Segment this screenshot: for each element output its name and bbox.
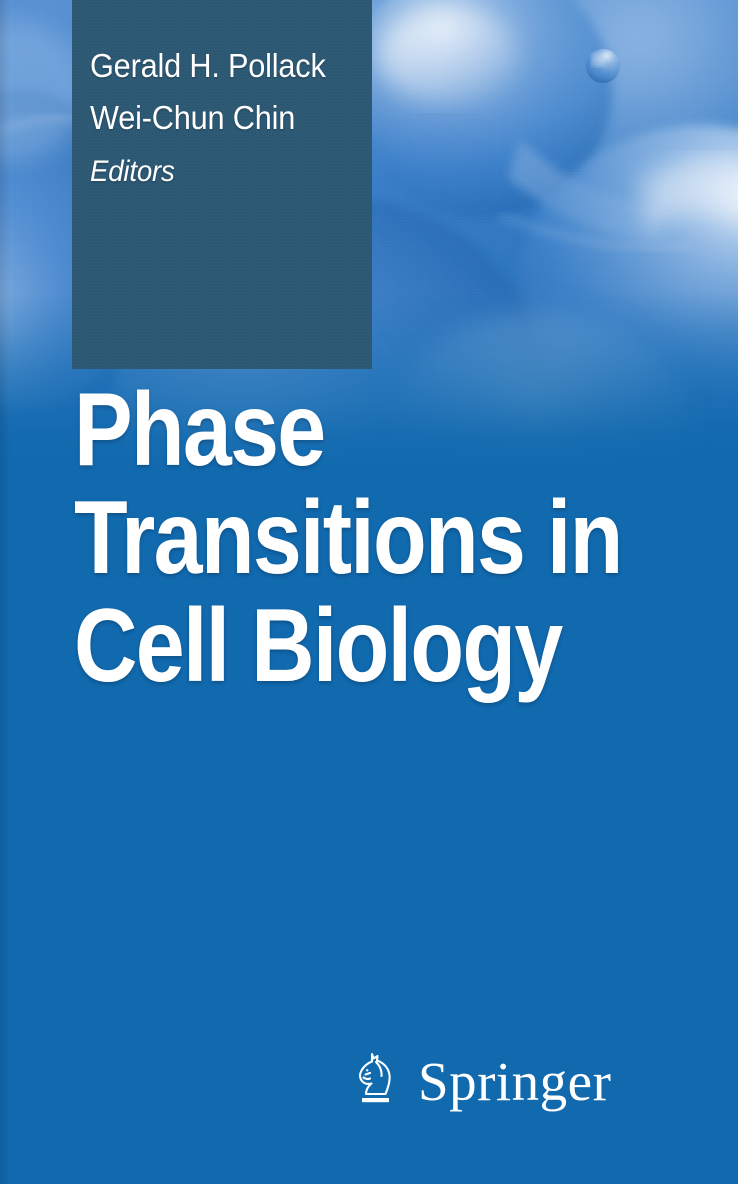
publisher-name: Springer xyxy=(418,1054,611,1109)
book-cover: Gerald H. Pollack Wei-Chun Chin Editors … xyxy=(0,0,738,1184)
title-line-1: Phase xyxy=(74,376,615,484)
publisher-logo: Springer xyxy=(352,1050,611,1112)
title-line-2: Transitions in xyxy=(74,484,615,592)
book-title: Phase Transitions in Cell Biology xyxy=(74,376,714,700)
author-name-primary: Gerald H. Pollack xyxy=(90,47,326,85)
author-name-secondary: Wei-Chun Chin xyxy=(90,99,295,137)
springer-knight-icon xyxy=(352,1050,398,1112)
title-line-3: Cell Biology xyxy=(74,592,615,700)
editors-panel: Gerald H. Pollack Wei-Chun Chin Editors xyxy=(72,0,372,369)
editors-role-label: Editors xyxy=(90,155,175,189)
